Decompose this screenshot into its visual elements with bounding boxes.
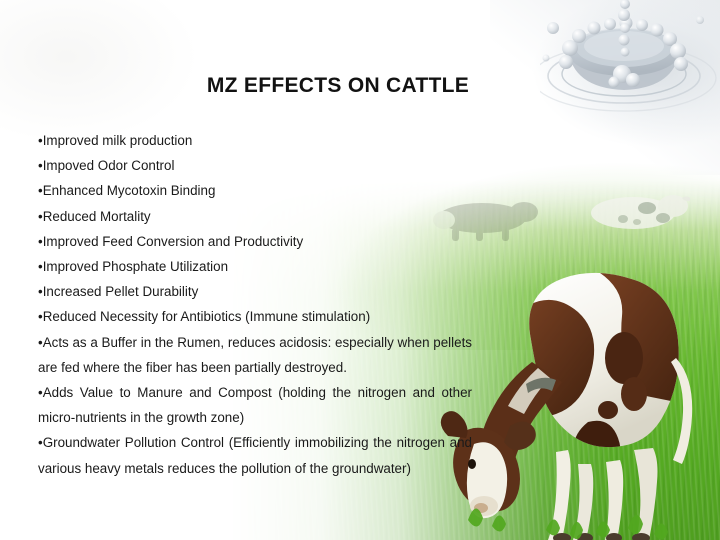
list-item-label: Acts as a Buffer in the Rumen, reduces a… bbox=[38, 335, 472, 375]
list-item: •Increased Pellet Durability bbox=[38, 279, 472, 304]
list-item-label: Impoved Odor Control bbox=[43, 158, 175, 173]
list-item: •Impoved Odor Control bbox=[38, 153, 472, 178]
list-item: •Reduced Necessity for Antibiotics (Immu… bbox=[38, 304, 472, 329]
list-item: •Improved Feed Conversion and Productivi… bbox=[38, 229, 472, 254]
page-title: MZ EFFECTS ON CATTLE bbox=[0, 74, 676, 98]
bullet-list: •Improved milk production •Impoved Odor … bbox=[38, 128, 472, 481]
list-item: •Improved Phosphate Utilization bbox=[38, 254, 472, 279]
list-item-label: Groundwater Pollution Control (Efficient… bbox=[38, 435, 472, 475]
presentation-slide: MZ EFFECTS ON CATTLE •Improved milk prod… bbox=[0, 0, 720, 540]
list-item-label: Adds Value to Manure and Compost (holdin… bbox=[38, 385, 472, 425]
list-item: •Adds Value to Manure and Compost (holdi… bbox=[38, 380, 472, 430]
list-item: •Reduced Mortality bbox=[38, 204, 472, 229]
list-item-label: Improved Phosphate Utilization bbox=[43, 259, 228, 274]
list-item: •Groundwater Pollution Control (Efficien… bbox=[38, 430, 472, 480]
list-item-label: Increased Pellet Durability bbox=[43, 284, 199, 299]
list-item-label: Enhanced Mycotoxin Binding bbox=[43, 183, 216, 198]
list-item-label: Improved milk production bbox=[43, 133, 193, 148]
list-item-label: Reduced Mortality bbox=[43, 209, 151, 224]
list-item-label: Improved Feed Conversion and Productivit… bbox=[43, 234, 304, 249]
list-item-label: Reduced Necessity for Antibiotics (Immun… bbox=[43, 309, 370, 324]
list-item: •Improved milk production bbox=[38, 128, 472, 153]
list-item: •Enhanced Mycotoxin Binding bbox=[38, 178, 472, 203]
list-item: •Acts as a Buffer in the Rumen, reduces … bbox=[38, 330, 472, 380]
